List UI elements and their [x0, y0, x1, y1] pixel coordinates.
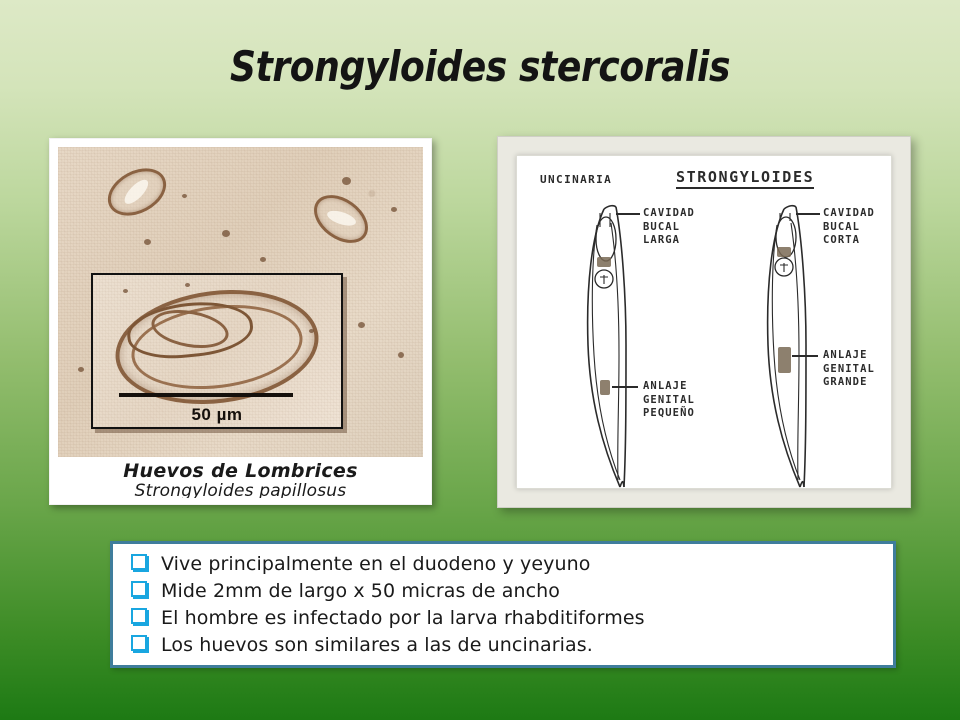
bullet-text: Mide 2mm de largo x 50 micras de ancho — [161, 580, 560, 602]
page-title: Strongyloides stercoralis — [67, 42, 893, 91]
square-bullet-icon — [131, 608, 147, 624]
debris-speck — [398, 352, 404, 358]
debris-speck — [391, 207, 397, 212]
label-cavidad-bucal-larga: CAVIDAD BUCAL LARGA — [643, 207, 695, 248]
caption-title: Huevos de Lombrices — [58, 461, 423, 482]
debris-speck — [182, 194, 187, 198]
debris-speck — [358, 322, 365, 328]
bullet-text: Los huevos son similares a las de uncina… — [161, 634, 593, 656]
diagram-canvas: UNCINARIA STRONGYLOIDES CAVIDAD BUC — [516, 155, 892, 489]
leader-line-right-mouth — [796, 213, 820, 215]
list-item: Los huevos son similares a las de uncina… — [131, 634, 893, 661]
debris-speck — [78, 367, 84, 372]
photo-caption: Huevos de Lombrices Strongyloides papill… — [58, 461, 423, 498]
label-anlaje-genital-grande: ANLAJE GENITAL GRANDE — [823, 349, 875, 390]
debris-speck — [309, 329, 314, 333]
debris-speck — [185, 283, 190, 287]
magnified-egg-inset: 50 µm — [91, 273, 343, 429]
bullet-text: Vive principalmente en el duodeno y yeyu… — [161, 553, 590, 575]
diagram-heading-strongyloides: STRONGYLOIDES — [676, 168, 814, 189]
caption-species: Strongyloides papillosus — [58, 482, 423, 498]
list-item: El hombre es infectado por la larva rhab… — [131, 607, 893, 634]
square-bullet-icon — [131, 581, 147, 597]
leader-line-left-genital — [612, 386, 638, 388]
label-cavidad-bucal-corta: CAVIDAD BUCAL CORTA — [823, 207, 875, 248]
bullet-textbox: Vive principalmente en el duodeno y yeyu… — [110, 541, 896, 668]
debris-speck — [222, 230, 230, 237]
scale-bar-label: 50 µm — [93, 405, 341, 425]
bullet-text: El hombre es infectado por la larva rhab… — [161, 607, 645, 629]
debris-speck — [123, 289, 128, 293]
label-anlaje-genital-pequeno: ANLAJE GENITAL PEQUEÑO — [643, 380, 695, 421]
scale-bar — [119, 393, 293, 397]
square-bullet-icon — [131, 554, 147, 570]
square-bullet-icon — [131, 635, 147, 651]
debris-speck — [144, 239, 151, 245]
debris-speck — [342, 177, 351, 185]
leader-line-right-genital — [792, 355, 818, 357]
diagram-heading-uncinaria: UNCINARIA — [540, 173, 612, 186]
microscopy-image: 50 µm — [58, 147, 423, 457]
larva-diagram-panel: UNCINARIA STRONGYLOIDES CAVIDAD BUC — [497, 136, 911, 508]
leader-line-left-mouth — [616, 213, 640, 215]
egg-photo-panel: 50 µm Huevos de Lombrices Strongyloides … — [49, 138, 432, 505]
debris-speck — [260, 257, 266, 262]
list-item: Mide 2mm de largo x 50 micras de ancho — [131, 580, 893, 607]
list-item: Vive principalmente en el duodeno y yeyu… — [131, 553, 893, 580]
